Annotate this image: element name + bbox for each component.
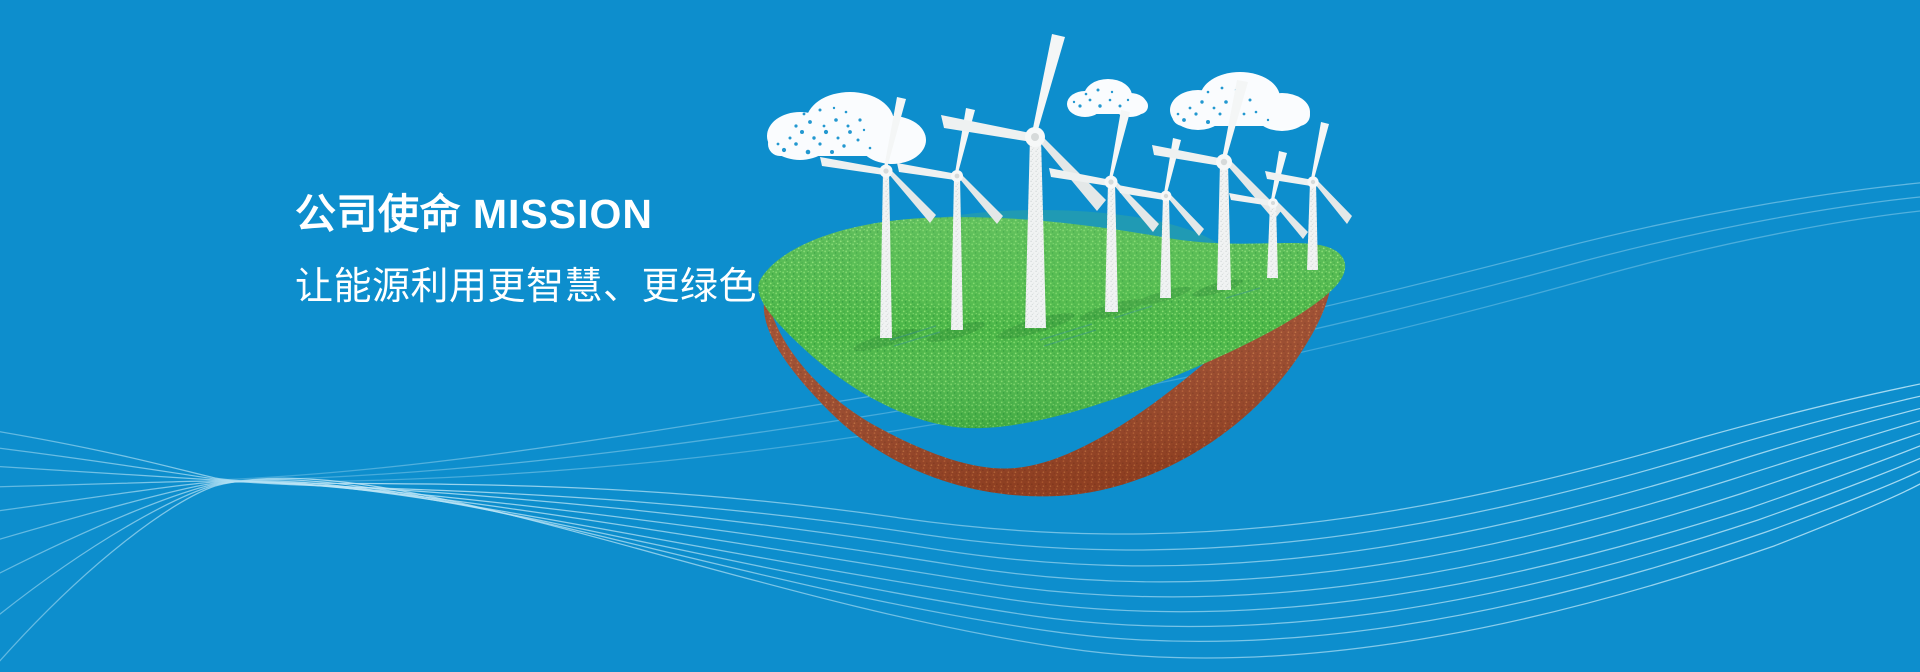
floating-island-icon [740, 40, 1380, 510]
page-title-cn: 公司使命 [295, 191, 461, 237]
mission-banner: 公司使命 MISSION 让能源利用更智慧、更绿色 [0, 0, 1920, 672]
page-title: 公司使命 MISSION [295, 192, 757, 237]
page-title-en: MISSION [473, 191, 653, 237]
banner-text-block: 公司使命 MISSION 让能源利用更智慧、更绿色 [295, 192, 757, 310]
page-subtitle: 让能源利用更智慧、更绿色 [295, 266, 757, 310]
island-body [758, 210, 1345, 496]
